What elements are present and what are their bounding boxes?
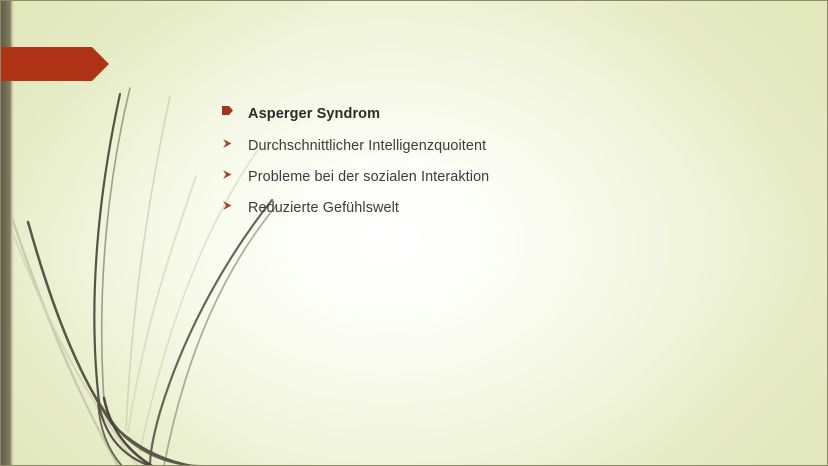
chevron-arrow-bullet-icon bbox=[222, 167, 248, 180]
bullet-label: Reduzierte Gefühlswelt bbox=[248, 198, 399, 218]
slide-content-body: Asperger Syndrom Durchschnittlicher Inte… bbox=[222, 104, 742, 229]
chevron-arrow-bullet-icon bbox=[222, 136, 248, 149]
bullet-label: Asperger Syndrom bbox=[248, 104, 380, 124]
bullet-label: Durchschnittlicher Intelligenzquoitent bbox=[248, 136, 486, 156]
bullet-item-gefuehlswelt: Reduzierte Gefühlswelt bbox=[222, 198, 742, 220]
bullet-item-soziale-interaktion: Probleme bei der sozialen Interaktion bbox=[222, 167, 742, 189]
filled-arrow-bullet-icon bbox=[222, 104, 248, 115]
presentation-slide: Asperger Syndrom Durchschnittlicher Inte… bbox=[0, 0, 828, 466]
slide-background-corner-tint bbox=[0, 0, 828, 466]
bullet-label: Probleme bei der sozialen Interaktion bbox=[248, 167, 489, 187]
bullet-item-intelligenzquotient: Durchschnittlicher Intelligenzquoitent bbox=[222, 136, 742, 158]
bullet-item-asperger-syndrom: Asperger Syndrom bbox=[222, 104, 742, 126]
chevron-arrow-bullet-icon bbox=[222, 198, 248, 211]
red-arrow-banner-icon bbox=[0, 47, 109, 81]
